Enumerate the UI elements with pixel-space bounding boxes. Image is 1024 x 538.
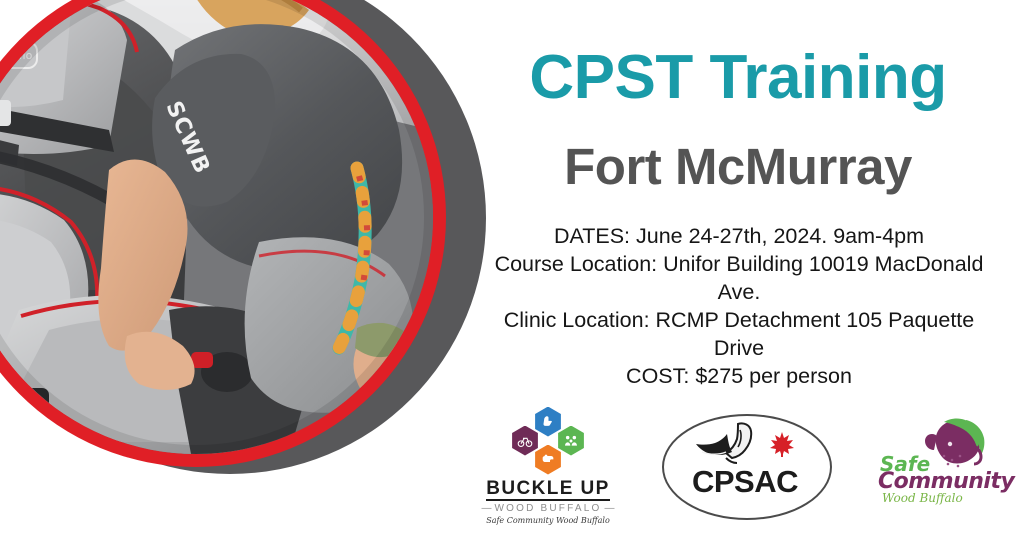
bike-hexagon-icon	[510, 426, 540, 456]
poster-content: CPST Training Fort McMurray DATES: June …	[452, 0, 1024, 538]
buckle-up-subtitle: WOOD BUFFALO	[479, 503, 618, 514]
photo-medallion: evenflo	[0, 0, 488, 538]
maple-leaf-icon	[770, 432, 794, 457]
family-hexagon-icon	[556, 426, 586, 456]
detail-line-clinic-location-2: Drive	[458, 334, 1020, 362]
detail-line-course-location-1: Course Location: Unifor Building 10019 M…	[458, 250, 1020, 278]
cpsac-carseat-illustration	[682, 422, 810, 468]
event-details: DATES: June 24-27th, 2024. 9am-4pm Cours…	[458, 222, 1020, 390]
page-subtitle: Fort McMurray	[452, 140, 1024, 193]
safe-community-word-wood-buffalo: Wood Buffalo	[882, 492, 963, 504]
booster-seat-icon	[540, 452, 556, 468]
booster-hexagon-icon	[533, 445, 563, 475]
carseat-technician-photo: evenflo	[0, 0, 433, 454]
partner-logo-row: BUCKLE UP WOOD BUFFALO Safe Community Wo…	[452, 404, 1024, 528]
cpsac-wordmark: CPSAC	[662, 464, 828, 500]
bicycle-icon	[517, 433, 533, 449]
detail-line-clinic-location-1: Clinic Location: RCMP Detachment 105 Paq…	[458, 306, 1020, 334]
buckle-up-wordmark: BUCKLE UP	[486, 479, 609, 502]
photo-illustration: evenflo	[0, 0, 433, 454]
safe-community-wood-buffalo-logo: Safe Community Wood Buffalo	[874, 414, 998, 518]
buckle-up-wood-buffalo-logo: BUCKLE UP WOOD BUFFALO Safe Community Wo…	[478, 407, 618, 526]
page-title: CPST Training	[452, 46, 1024, 109]
buckle-up-script-tagline: Safe Community Wood Buffalo	[486, 516, 610, 525]
family-group-icon	[563, 433, 579, 449]
detail-line-course-location-2: Ave.	[458, 278, 1020, 306]
cpsac-logo: CPSAC	[662, 414, 830, 518]
detail-line-cost: COST: $275 per person	[458, 362, 1020, 390]
poster-canvas: evenflo	[0, 0, 1024, 538]
detail-line-dates: DATES: June 24-27th, 2024. 9am-4pm	[458, 222, 1020, 250]
carseat-hexagon-icon	[533, 407, 563, 437]
safe-community-word-community: Community	[878, 471, 1014, 493]
child-seat-icon	[541, 414, 556, 429]
buckle-up-hexagon-cluster	[502, 407, 594, 475]
